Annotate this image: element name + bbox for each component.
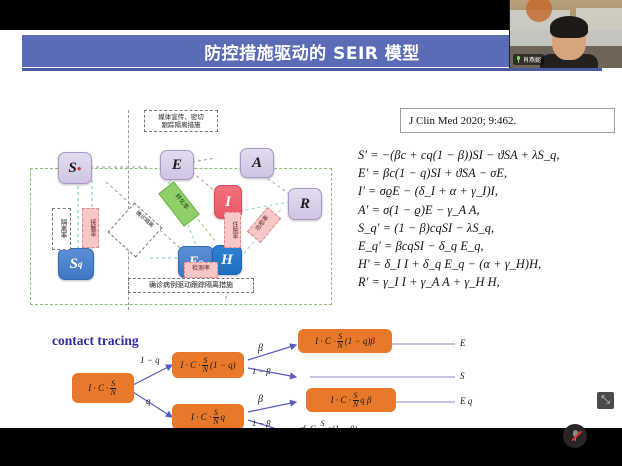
equation-Eq: E_q′ = βcqSI − δ_q E_q, xyxy=(358,237,620,255)
mic-muted-indicator[interactable] xyxy=(563,424,587,448)
outcome-Eq: E q xyxy=(460,396,472,406)
node-S[interactable]: S● xyxy=(58,152,92,184)
node-E[interactable]: E xyxy=(160,150,194,180)
tracing-box-l3-Eq[interactable]: I · C · SN q β xyxy=(306,388,396,412)
equation-Sq: S_q′ = (1 − β)cqSI − λS_q, xyxy=(358,219,620,237)
label-contact-rate: 接触率 xyxy=(82,208,99,248)
citation-text: J Clin Med 2020; 9:462. xyxy=(409,115,516,127)
tracing-root-box[interactable]: I · C · SN xyxy=(72,373,134,403)
label-confirmed-case-tracing: 确诊病例驱动跟踪隔离措施 xyxy=(128,278,254,293)
citation-box: J Clin Med 2020; 9:462. xyxy=(400,108,615,133)
outcome-S: S xyxy=(460,371,465,381)
node-R[interactable]: R xyxy=(288,188,322,220)
equation-I: I′ = σϱE − (δ_I + α + γ_I)I, xyxy=(358,182,620,200)
participant-name-badge: 肖燕妮 xyxy=(513,54,544,65)
presentation-slide: 防控措施驱动的 SEIR 模型 J Clin Med 2020; 9:462. … xyxy=(0,30,622,428)
zoom-meeting-screen: 防控措施驱动的 SEIR 模型 J Clin Med 2020; 9:462. … xyxy=(0,0,622,466)
tracing-box-l2-b[interactable]: I · C · SN q xyxy=(172,404,244,428)
label-hospital-rate: 住院率 xyxy=(224,212,241,248)
edge-label-onebeta-top: 1 − β xyxy=(252,366,270,376)
edge-label-beta-bottom: β xyxy=(258,394,263,405)
label-media-measures: 媒体宣传、密切跟踪隔离措施 xyxy=(144,110,218,132)
expand-collapse-button[interactable]: ⤡ xyxy=(597,392,614,409)
title-underline xyxy=(22,68,602,71)
equation-A: A′ = σ(1 − ϱ)E − γ_A A, xyxy=(358,201,620,219)
equation-R: R′ = γ_I I + γ_A A + γ_H H, xyxy=(358,273,620,291)
branch-label-top: 1 − q xyxy=(140,355,160,365)
tracing-expr-l3-Sq: ᵒf ·C· SN q(1 − β) xyxy=(300,420,357,428)
video-person-hair xyxy=(550,16,588,38)
tracing-box-l3-E[interactable]: I · C · SN (1 − q)β xyxy=(298,329,392,353)
tracing-box-l2-a[interactable]: I · C · SN (1 − q) xyxy=(172,352,244,378)
participant-video-tile[interactable]: 肖燕妮 xyxy=(509,0,622,68)
edge-label-onebeta-bottom: 1 − β xyxy=(252,418,270,428)
mic-icon xyxy=(516,56,521,63)
slide-title: 防控措施驱动的 SEIR 模型 xyxy=(204,39,420,64)
participant-name: 肖燕妮 xyxy=(523,55,541,64)
equation-E: E′ = βc(1 − q)SI + ϑSA − σE, xyxy=(358,164,620,182)
equation-S: S′ = −(βc + cq(1 − β))SI − ϑSA + λS_q, xyxy=(358,146,620,164)
microphone-muted-icon xyxy=(571,430,580,442)
branch-label-bottom: q xyxy=(146,396,151,406)
equation-H: H′ = δ_I I + δ_q E_q − (α + γ_H)H, xyxy=(358,255,620,273)
edge-label-beta-top: β xyxy=(258,343,263,354)
node-Sq[interactable]: Sq xyxy=(58,248,94,280)
ode-system: S′ = −(βc + cq(1 − β))SI − ϑSA + λS_q, E… xyxy=(358,146,620,292)
label-quarantine-rate: 隔离率 xyxy=(52,208,71,250)
label-detect-rate: 检测率 xyxy=(184,262,218,278)
node-A[interactable]: A xyxy=(240,148,274,178)
expand-arrow-icon: ⤡ xyxy=(601,394,610,407)
outcome-E: E xyxy=(460,338,466,348)
seir-compartment-diagram: 媒体宣传、密切跟踪隔离措施 S● E A I R Sq Eq xyxy=(20,90,350,315)
